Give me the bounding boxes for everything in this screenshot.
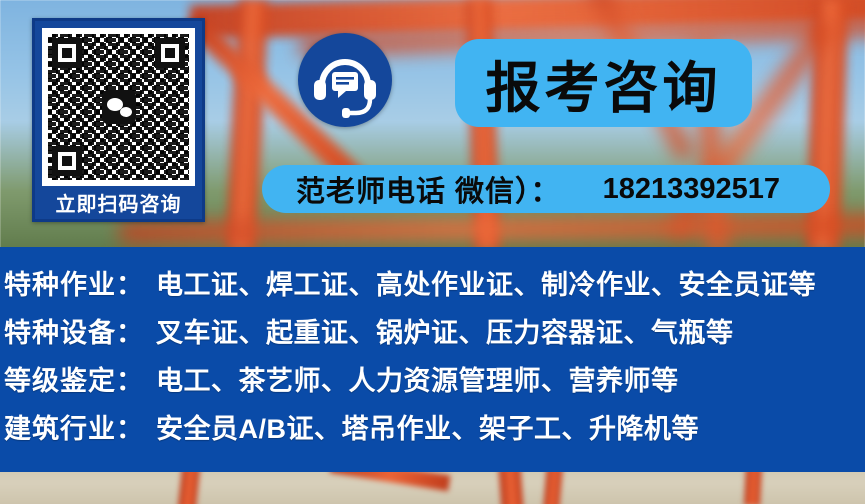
headset-support-icon [298, 33, 392, 127]
list-item: 特种作业： 电工证、焊工证、高处作业证、制冷作业、安全员证等 [4, 261, 865, 309]
category-name: 特种作业： [4, 261, 156, 309]
crane-base-far-right [543, 472, 563, 504]
crane-base-edge [744, 472, 762, 504]
phone-badge-label: 范老师电话 微信）： [296, 168, 561, 210]
category-name: 特种设备： [4, 309, 156, 357]
qr-card-caption: 立即扫码咨询 [42, 186, 195, 224]
list-item: 等级鉴定： 电工、茶艺师、人力资源管理师、营养师等 [4, 357, 865, 405]
list-item: 建筑行业： 安全员A/B证、塔吊作业、架子工、升降机等 [4, 405, 865, 453]
category-items: 电工证、焊工证、高处作业证、制冷作业、安全员证等 [156, 261, 816, 309]
wechat-icon [102, 90, 136, 124]
qr-finder-top-right [155, 38, 185, 68]
qr-finder-bottom-left [52, 146, 82, 176]
category-items: 安全员A/B证、塔吊作业、架子工、升降机等 [156, 405, 699, 453]
promo-poster: 立即扫码咨询 报考咨询 范老师电话 微信）： 18213392517 [0, 0, 865, 504]
phone-number[interactable]: 18213392517 [603, 173, 780, 206]
crane-base-right [498, 472, 523, 504]
category-name: 等级鉴定： [4, 357, 156, 405]
wechat-bubble-small [120, 107, 132, 117]
phone-badge[interactable]: 范老师电话 微信）： 18213392517 [262, 165, 830, 213]
background-bottom-strip [0, 472, 865, 504]
category-items: 电工、茶艺师、人力资源管理师、营养师等 [156, 357, 679, 405]
title-badge: 报考咨询 [455, 39, 752, 127]
qr-code-card[interactable]: 立即扫码咨询 [32, 18, 205, 222]
list-item: 特种设备： 叉车证、起重证、锅炉证、压力容器证、气瓶等 [4, 309, 865, 357]
qr-code-image[interactable] [42, 28, 195, 186]
title-badge-label: 报考咨询 [485, 43, 721, 123]
qr-matrix [48, 34, 189, 180]
qr-finder-top-left [52, 38, 82, 68]
category-name: 建筑行业： [4, 405, 156, 453]
category-list-panel: 特种作业： 电工证、焊工证、高处作业证、制冷作业、安全员证等 特种设备： 叉车证… [0, 247, 865, 472]
category-items: 叉车证、起重证、锅炉证、压力容器证、气瓶等 [156, 309, 734, 357]
